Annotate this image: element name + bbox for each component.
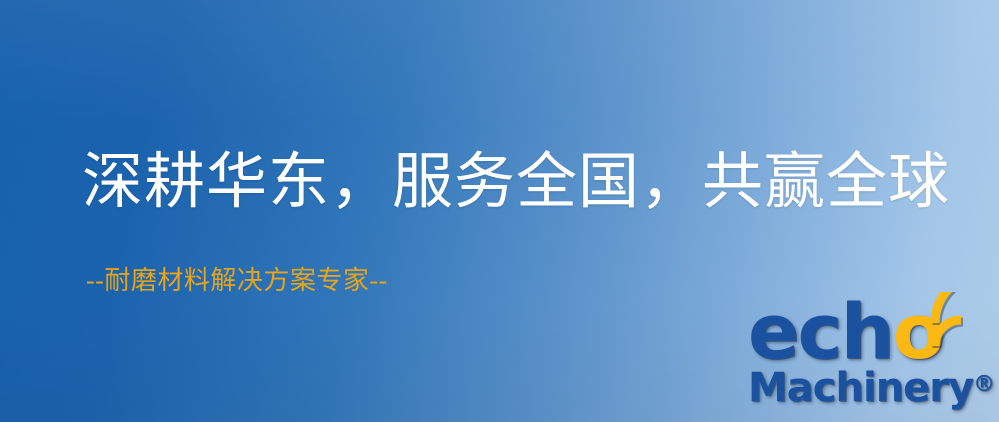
- signal-arcs-icon: [928, 292, 998, 362]
- registered-trademark-icon: ®: [973, 372, 995, 397]
- banner-subtitle: --耐磨材料解决方案专家--: [86, 268, 388, 294]
- banner-headline: 深耕华东，服务全国，共赢全球: [82, 152, 950, 213]
- logo-tagline: Machinery®: [748, 368, 995, 408]
- logo-tagline-text: Machinery: [748, 365, 973, 411]
- company-logo[interactable]: echo Machinery®: [744, 292, 996, 420]
- logo-word-ech: ech: [748, 287, 893, 376]
- promo-banner: 深耕华东，服务全国，共赢全球 --耐磨材料解决方案专家-- echo Machi…: [0, 0, 999, 422]
- logo-word-echo: echo: [748, 294, 943, 370]
- logo-wordmark: echo: [744, 292, 996, 374]
